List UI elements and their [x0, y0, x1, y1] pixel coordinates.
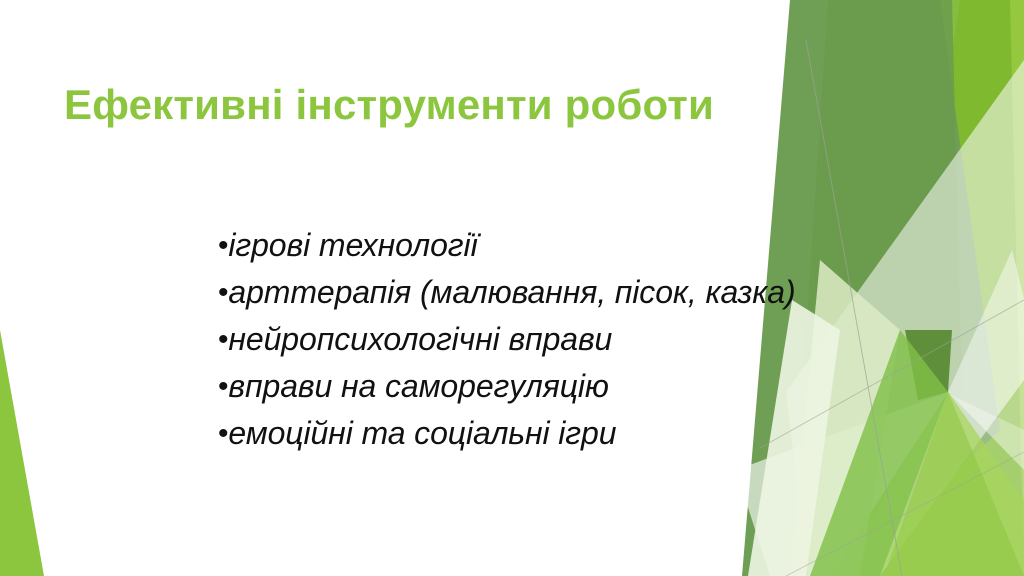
- mid-green-blade: [810, 330, 948, 576]
- list-item-label: емоційні та соціальні ігри: [228, 415, 616, 451]
- bullet-marker-icon: •: [218, 370, 228, 403]
- hairline-lower: [786, 452, 1024, 576]
- right-band-bright-outer: [872, 0, 1024, 576]
- pale-overlay-narrow-spike: [948, 250, 1024, 470]
- list-item: •вправи на саморегуляцію: [218, 363, 796, 410]
- pale-green-sliver-left: [790, 260, 900, 576]
- left-green-wedge: [0, 330, 44, 576]
- slide-canvas: Ефективні інструменти роботи •ігрові тех…: [0, 0, 1024, 576]
- dark-green-notch: [905, 330, 952, 400]
- list-item: •ігрові технології: [218, 222, 796, 269]
- light-green-triangle-mid: [884, 392, 1024, 576]
- light-green-triangle-lower-left: [830, 392, 1024, 576]
- bullet-marker-icon: •: [218, 417, 228, 450]
- list-item-label: арттерапія (малювання, пісок, казка): [228, 274, 795, 310]
- hairline-diagonal: [760, 300, 1024, 448]
- list-item-label: нейропсихологічні вправи: [228, 321, 612, 357]
- list-item: •арттерапія (малювання, пісок, казка): [218, 269, 796, 316]
- list-item: •емоційні та соціальні ігри: [218, 410, 796, 457]
- page-title: Ефективні інструменти роботи: [64, 82, 714, 128]
- bullet-marker-icon: •: [218, 276, 228, 309]
- bullet-marker-icon: •: [218, 229, 228, 262]
- right-band-bright-inner: [800, 0, 1024, 576]
- right-band-dark-overlay: [790, 0, 962, 576]
- pale-overlay-midlight: [840, 392, 1024, 576]
- list-item-label: ігрові технології: [228, 227, 477, 263]
- list-item-label: вправи на саморегуляцію: [228, 368, 608, 404]
- list-item: •нейропсихологічні вправи: [218, 316, 796, 363]
- bullet-list: •ігрові технології •арттерапія (малюванн…: [218, 222, 796, 457]
- hairline-upper: [806, 40, 902, 576]
- bullet-marker-icon: •: [218, 323, 228, 356]
- pale-overlay-upper: [786, 60, 1024, 576]
